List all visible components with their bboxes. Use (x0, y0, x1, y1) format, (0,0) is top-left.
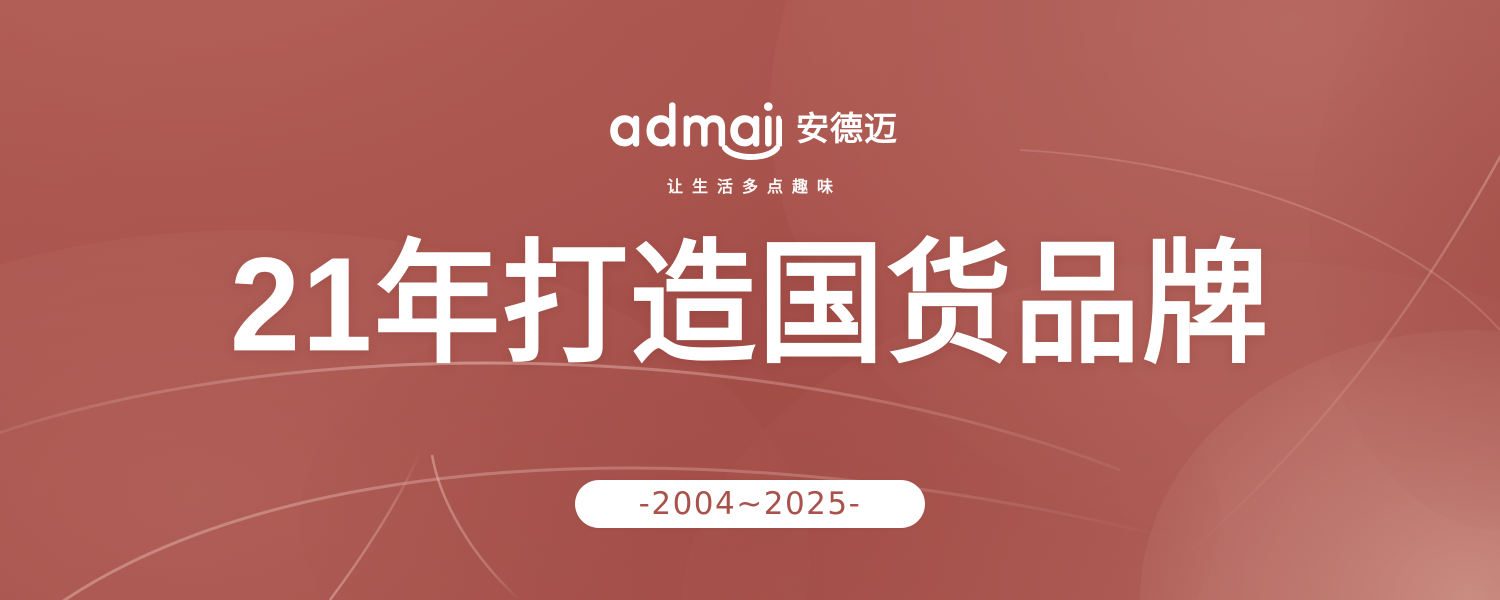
brand-logo: 安德迈 (602, 101, 898, 163)
brand-banner: 安德迈 让生活多点趣味 21年打造国货品牌 -2004~2025- (0, 0, 1500, 600)
brand-chinese-name: 安德迈 (796, 112, 898, 145)
year-range-badge: -2004~2025- (575, 480, 925, 528)
year-range-text: -2004~2025- (639, 489, 862, 520)
smile-arc-icon (722, 145, 780, 163)
admair-wordmark (602, 101, 782, 163)
headline: 21年打造国货品牌 (230, 238, 1270, 372)
banner-content: 安德迈 让生活多点趣味 21年打造国货品牌 -2004~2025- (0, 0, 1500, 600)
brand-tagline: 让生活多点趣味 (658, 180, 842, 196)
